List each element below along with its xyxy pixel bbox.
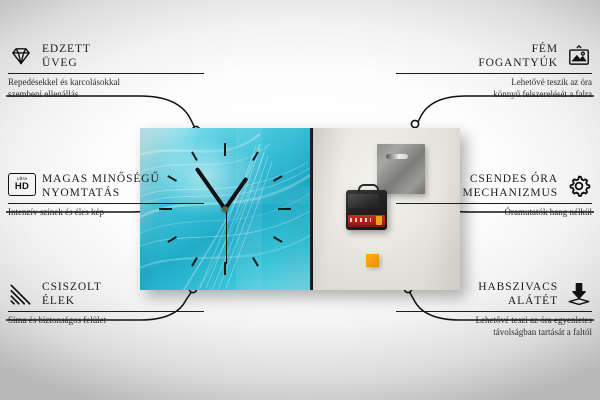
metal-handles-sub-1: Lehetővé teszik az óra: [396, 77, 592, 89]
feature-tempered-glass: EDZETT ÜVEG Repedésekkel és karcolásokka…: [8, 42, 204, 100]
ultra-hd-large-text: HD: [15, 182, 29, 192]
polished-edges-title-1: CSISZOLT: [42, 280, 102, 294]
connector-tempered-glass: [6, 96, 195, 128]
print-quality-rule: [8, 203, 204, 204]
connector-dot-metal-handles: [411, 120, 418, 127]
foam-pad-rule: [396, 311, 592, 312]
metal-handles-sub-2: könnyű felszerelését a falra: [396, 89, 592, 101]
foam-pad-title-1: HABSZIVACS: [478, 280, 558, 294]
silent-mechanism-sub-1: Óramutatók hang nélkül: [396, 207, 592, 219]
foam-pad-head: HABSZIVACS ALÁTÉT: [396, 280, 592, 308]
tempered-glass-title-1: EDZETT: [42, 42, 91, 56]
feature-foam-pad: HABSZIVACS ALÁTÉT Lehetővé teszi az óra …: [396, 280, 592, 338]
gear-icon: [566, 173, 592, 199]
tempered-glass-sub-2: szembeni ellenállás: [8, 89, 204, 101]
feature-silent-mechanism: CSENDES ÓRA MECHANIZMUS Óramutatók hang …: [396, 172, 592, 219]
print-quality-head: ultra HD MAGAS MINŐSÉGŰ NYOMTATÁS: [8, 172, 204, 200]
print-quality-title-1: MAGAS MINŐSÉGŰ: [42, 172, 160, 186]
infographic-canvas: EDZETT ÜVEG Repedésekkel és karcolásokka…: [0, 0, 600, 400]
tempered-glass-title-2: ÜVEG: [42, 56, 91, 70]
wall-frame-icon: [566, 43, 592, 69]
diamond-icon: [8, 43, 34, 69]
foam-pad-arrow-icon: [566, 281, 592, 307]
polished-edge-icon: [8, 281, 34, 307]
metal-handles-title-2: FOGANTYÚK: [478, 56, 558, 70]
silent-mechanism-title-1: CSENDES ÓRA: [462, 172, 558, 186]
polished-edges-head: CSISZOLT ÉLEK: [8, 280, 204, 308]
polished-edges-rule: [8, 311, 204, 312]
silent-mechanism-head: CSENDES ÓRA MECHANIZMUS: [396, 172, 592, 200]
print-quality-title-2: NYOMTATÁS: [42, 186, 160, 200]
foam-pad-title-2: ALÁTÉT: [478, 294, 558, 308]
silent-mechanism-title-2: MECHANIZMUS: [462, 186, 558, 200]
clock-center-cap: [222, 206, 228, 212]
metal-handles-title-1: FÉM: [478, 42, 558, 56]
feature-print-quality: ultra HD MAGAS MINŐSÉGŰ NYOMTATÁS Intenz…: [8, 172, 204, 219]
feature-polished-edges: CSISZOLT ÉLEK Sima és biztonságos felüle…: [8, 280, 204, 327]
connector-metal-handles: [416, 96, 594, 126]
second-hand: [226, 208, 227, 264]
tempered-glass-sub-1: Repedésekkel és karcolásokkal: [8, 77, 204, 89]
feature-metal-handles: FÉM FOGANTYÚK Lehetővé teszik az óra kön…: [396, 42, 592, 100]
tempered-glass-head: EDZETT ÜVEG: [8, 42, 204, 70]
print-quality-sub-1: Intenzív színek és éles kép: [8, 207, 204, 219]
polished-edges-sub-1: Sima és biztonságos felület: [8, 315, 204, 327]
foam-pad-sub-1: Lehetővé teszi az óra egyenletes: [396, 315, 592, 327]
polished-edges-title-2: ÉLEK: [42, 294, 102, 308]
ultra-hd-badge-icon: ultra HD: [8, 173, 34, 199]
tempered-glass-rule: [8, 73, 204, 74]
silent-mechanism-rule: [396, 203, 592, 204]
foam-pad-sub-2: távolságban tartását a faltól: [396, 327, 592, 339]
metal-handles-rule: [396, 73, 592, 74]
metal-handles-head: FÉM FOGANTYÚK: [396, 42, 592, 70]
